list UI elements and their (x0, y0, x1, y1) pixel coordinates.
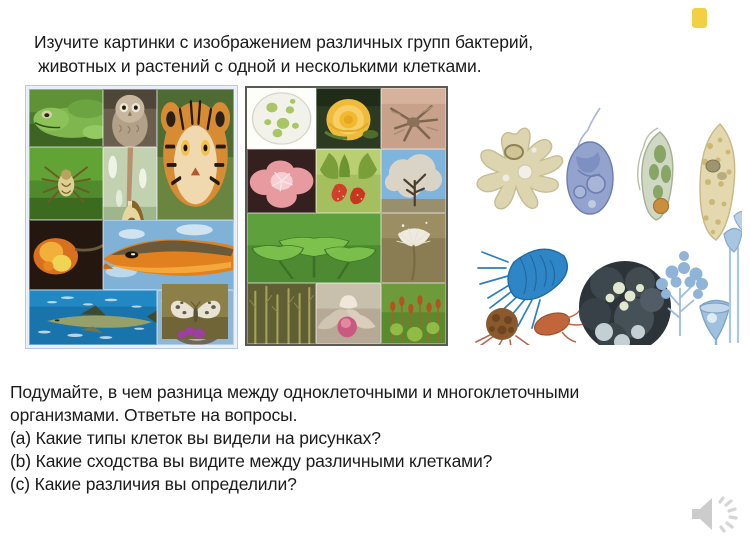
tile-shark-underwater (29, 290, 157, 345)
tile-tiger-face (157, 89, 234, 220)
tile-yellow-rose (316, 88, 381, 149)
speaker-icon[interactable] (688, 492, 742, 536)
tile-dried-plant-roots (381, 88, 446, 149)
instruction-top: Изучите картинки с изображением различны… (34, 30, 674, 78)
tile-blossoming-tree (381, 149, 446, 213)
tile-strawberry-plant (316, 149, 381, 213)
yellow-marker-icon (692, 8, 707, 28)
tile-orchid-flower (316, 283, 381, 344)
tile-grass-stems (247, 283, 316, 344)
tile-coral-polyp (29, 220, 103, 290)
question-c: (c) Какие различия вы определили? (10, 473, 710, 496)
instruction-bottom: Подумайте, в чем разница между одноклето… (10, 381, 710, 496)
tile-butterfly-on-flower (162, 284, 228, 339)
instruction-bottom-line-1: Подумайте, в чем разница между одноклето… (10, 381, 710, 404)
instruction-bottom-line-2: организмами. Ответьте на вопросы. (10, 404, 710, 427)
instruction-top-line-1: Изучите картинки с изображением различны… (34, 30, 674, 54)
slide-canvas: Изучите картинки с изображением различны… (0, 0, 750, 546)
tile-spider-on-leaf (29, 147, 103, 220)
instruction-top-line-2: животных и растений с одной и нескольким… (34, 54, 674, 78)
tile-pink-flower (247, 149, 316, 213)
tile-green-tree-frog (29, 89, 103, 147)
collage-plants-and-bacteria (245, 86, 448, 346)
tile-arowana-fish (103, 220, 234, 290)
question-b: (b) Какие сходства вы видите между разли… (10, 450, 710, 473)
tile-dandelion-seedhead (381, 213, 446, 283)
question-a: (a) Какие типы клеток вы видели на рисун… (10, 427, 710, 450)
tile-owl (103, 89, 157, 147)
tile-moss-sporophytes (381, 283, 446, 344)
microorganism-illustrations (462, 92, 742, 345)
tile-ginkgo-leaves (247, 213, 381, 283)
tile-bacteria-petri-dish (247, 88, 316, 149)
